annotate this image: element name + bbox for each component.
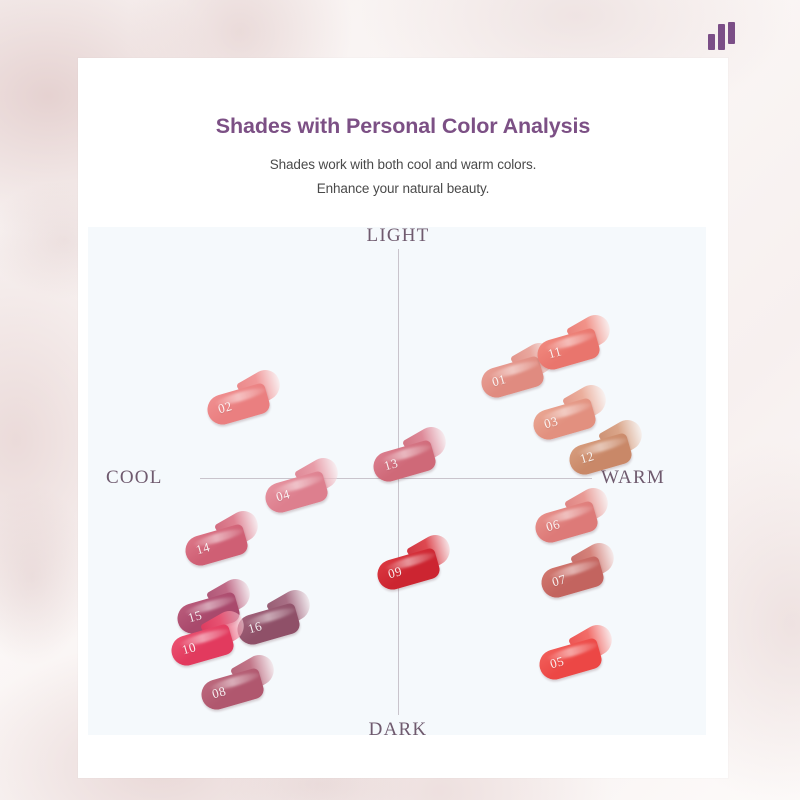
vertical-axis [398,249,399,715]
logo-bar-1 [708,34,715,50]
personal-color-chart: LIGHT DARK COOL WARM 0111031206070502041… [88,227,706,735]
page-title: Shades with Personal Color Analysis [78,114,728,139]
shade-swatch-05[interactable]: 05 [534,627,619,685]
axis-label-light: LIGHT [367,225,430,247]
shade-swatch-14[interactable]: 14 [180,513,265,571]
shade-swatch-06[interactable]: 06 [530,490,615,548]
shade-swatch-04[interactable]: 04 [260,460,345,518]
subtitle-line-2: Enhance your natural beauty. [78,181,728,196]
shade-swatch-11[interactable]: 11 [532,317,617,375]
content-card: Shades with Personal Color Analysis Shad… [78,58,728,778]
shade-swatch-08[interactable]: 08 [196,657,281,715]
shade-swatch-07[interactable]: 07 [536,545,621,603]
logo-bar-2 [718,24,725,50]
axis-label-cool: COOL [106,467,163,489]
axis-label-warm: WARM [601,467,665,489]
shade-swatch-02[interactable]: 02 [202,372,287,430]
logo-bar-3 [728,22,735,44]
brand-logo-icon [708,16,742,50]
shade-swatch-09[interactable]: 09 [372,537,457,595]
axis-label-dark: DARK [369,719,428,741]
subtitle-line-1: Shades work with both cool and warm colo… [78,157,728,172]
